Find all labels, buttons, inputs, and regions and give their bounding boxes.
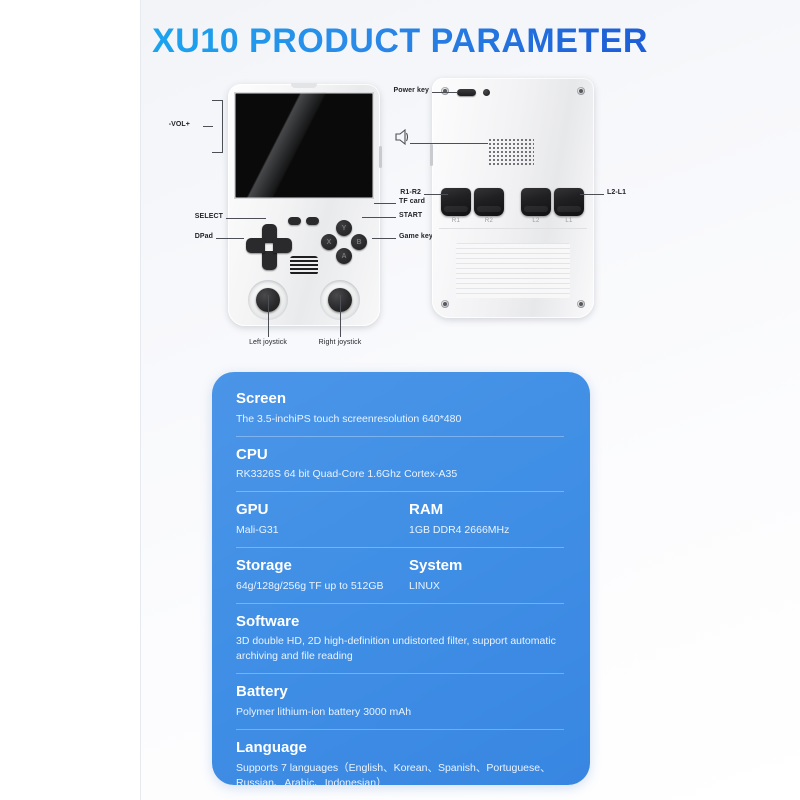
spec-label-battery: Battery xyxy=(236,683,566,702)
spec-divider-3 xyxy=(236,547,564,548)
spec-row-language: Language Supports 7 languages（English、Ko… xyxy=(236,739,566,785)
screw-top-right xyxy=(577,87,585,95)
spec-row-battery: Battery Polymer lithium-ion battery 3000… xyxy=(236,683,566,720)
leader-right-joystick xyxy=(340,295,341,337)
spec-value-ram: 1GB DDR4 2666MHz xyxy=(409,523,566,538)
specification-panel: Screen The 3.5-inchiPS touch screenresol… xyxy=(212,372,590,785)
start-button xyxy=(306,217,319,225)
leader-volume-bottom xyxy=(212,152,223,153)
select-button xyxy=(288,217,301,225)
callout-l2-l1: L2-L1 xyxy=(607,189,626,196)
leader-l2-l1 xyxy=(580,194,604,195)
power-button xyxy=(457,89,476,96)
spec-label-storage: Storage xyxy=(236,557,401,576)
spec-label-gpu: GPU xyxy=(236,501,401,520)
spec-divider-1 xyxy=(236,436,564,437)
back-panel-divider xyxy=(439,228,587,229)
back-ridge-texture xyxy=(456,243,570,298)
callout-right-joystick: Right joystick xyxy=(319,339,362,346)
spec-value-software: 3D double HD, 2D high-definition undisto… xyxy=(236,634,566,664)
leader-dpad xyxy=(216,238,244,239)
indicator-dot xyxy=(483,89,490,96)
front-speaker-grille xyxy=(290,256,318,275)
callout-dpad: DPad xyxy=(195,233,213,240)
callout-r1-r2: R1-R2 xyxy=(400,189,421,196)
spec-value-gpu: Mali-G31 xyxy=(236,523,401,538)
leader-volume-stem xyxy=(203,126,213,127)
spec-divider-6 xyxy=(236,729,564,730)
spec-divider-2 xyxy=(236,491,564,492)
spec-label-ram: RAM xyxy=(409,501,566,520)
spec-cell-system: System LINUX xyxy=(401,557,566,594)
dpad-down xyxy=(262,251,277,270)
front-side-button xyxy=(379,146,382,168)
screw-bottom-left xyxy=(441,300,449,308)
spec-value-cpu: RK3326S 64 bit Quad-Core 1.6Ghz Cortex-A… xyxy=(236,467,566,482)
spec-value-language: Supports 7 languages（English、Korean、Span… xyxy=(236,761,566,785)
spec-value-system: LINUX xyxy=(409,579,566,594)
callout-power-key: Power key xyxy=(393,87,429,94)
dpad-left xyxy=(246,238,265,253)
screw-top-left xyxy=(441,87,449,95)
screw-bottom-right xyxy=(577,300,585,308)
spec-row-screen: Screen The 3.5-inchiPS touch screenresol… xyxy=(236,390,566,427)
callout-select: SELECT xyxy=(195,213,223,220)
device-screen xyxy=(234,92,374,199)
spec-label-screen: Screen xyxy=(236,390,566,409)
leader-left-joystick xyxy=(268,295,269,337)
callout-tf-card: TF card xyxy=(399,198,425,205)
speaker-icon xyxy=(393,128,409,146)
dpad-right xyxy=(273,238,292,253)
spec-cell-gpu: GPU Mali-G31 xyxy=(236,501,401,538)
leader-tf-card xyxy=(374,203,396,204)
back-side-button xyxy=(430,144,433,166)
device-back-view: R1 R2 L2 L1 xyxy=(432,78,594,318)
spec-row-storage-system: Storage 64g/128g/256g TF up to 512GB Sys… xyxy=(236,557,566,594)
shoulder-label-l1: L1 xyxy=(554,218,584,224)
spec-row-cpu: CPU RK3326S 64 bit Quad-Core 1.6Ghz Cort… xyxy=(236,446,566,483)
shoulder-button-r2 xyxy=(474,188,504,216)
device-illustration-area: Y X B A -VOL+ SELECT DPad TF card START … xyxy=(0,70,800,360)
shoulder-label-r1: R1 xyxy=(441,218,471,224)
leader-r1-r2 xyxy=(424,194,448,195)
leader-power-key xyxy=(432,92,458,93)
product-parameter-page: XU10 PRODUCT PARAMETER Y X B A xyxy=(0,0,800,800)
screen-glare xyxy=(234,92,374,199)
spec-value-battery: Polymer lithium-ion battery 3000 mAh xyxy=(236,705,566,720)
callout-left-joystick: Left joystick xyxy=(249,339,287,346)
leader-grille xyxy=(410,143,488,144)
device-front-view: Y X B A xyxy=(228,84,380,326)
spec-divider-4 xyxy=(236,603,564,604)
leader-volume-top xyxy=(212,100,223,101)
spec-label-cpu: CPU xyxy=(236,446,566,465)
spec-row-software: Software 3D double HD, 2D high-definitio… xyxy=(236,613,566,665)
action-button-x: X xyxy=(321,234,337,250)
dpad-control xyxy=(246,224,292,270)
page-title: XU10 PRODUCT PARAMETER xyxy=(0,22,800,61)
callout-start: START xyxy=(399,212,422,219)
spec-label-system: System xyxy=(409,557,566,576)
shoulder-label-l2: L2 xyxy=(521,218,551,224)
spec-value-storage: 64g/128g/256g TF up to 512GB xyxy=(236,579,401,594)
leader-game-keys xyxy=(372,238,396,239)
shoulder-label-r2: R2 xyxy=(474,218,504,224)
spec-row-gpu-ram: GPU Mali-G31 RAM 1GB DDR4 2666MHz xyxy=(236,501,566,538)
shoulder-button-l1 xyxy=(554,188,584,216)
spec-label-software: Software xyxy=(236,613,566,632)
shoulder-button-l2 xyxy=(521,188,551,216)
shoulder-button-r1 xyxy=(441,188,471,216)
leader-start xyxy=(362,217,396,218)
leader-volume-bracket xyxy=(222,100,223,152)
leader-select xyxy=(226,218,266,219)
action-button-b: B xyxy=(351,234,367,250)
spec-cell-ram: RAM 1GB DDR4 2666MHz xyxy=(401,501,566,538)
action-button-a: A xyxy=(336,248,352,264)
front-notch xyxy=(291,83,317,88)
spec-value-screen: The 3.5-inchiPS touch screenresolution 6… xyxy=(236,412,566,427)
action-button-y: Y xyxy=(336,220,352,236)
spec-cell-storage: Storage 64g/128g/256g TF up to 512GB xyxy=(236,557,401,594)
back-speaker-grille xyxy=(488,138,534,166)
spec-divider-5 xyxy=(236,673,564,674)
callout-volume: -VOL+ xyxy=(169,121,190,128)
spec-label-language: Language xyxy=(236,739,566,758)
